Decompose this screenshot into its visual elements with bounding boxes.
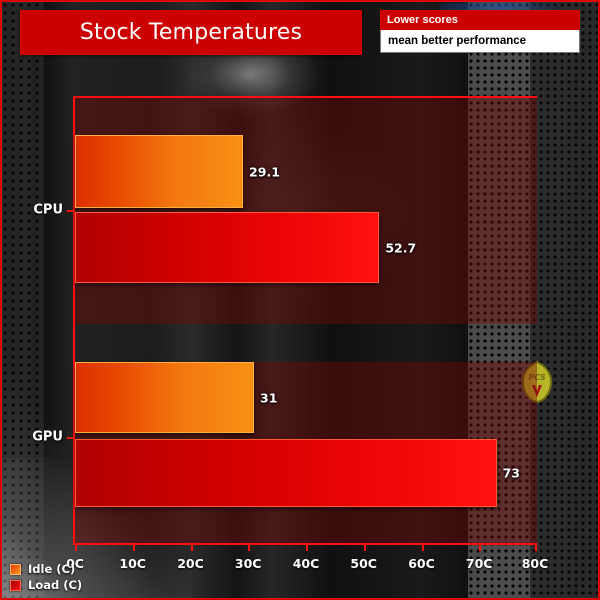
legend-item-idle[interactable]: Idle (C) (10, 562, 82, 576)
note-body: mean better performance (380, 30, 580, 53)
note-heading: Lower scores (380, 10, 580, 30)
x-label-20: 20C (177, 556, 204, 571)
x-label-60: 60C (408, 556, 435, 571)
x-label-50: 50C (350, 556, 377, 571)
page-title: Stock Temperatures (80, 20, 302, 45)
x-label-30: 30C (235, 556, 262, 571)
plot-tint-cpu (75, 96, 537, 324)
chart-title-banner: Stock Temperatures (20, 10, 362, 55)
bar-cpu-load[interactable]: 52.7 (75, 212, 379, 283)
x-tick-30 (248, 544, 250, 551)
plot-area: 0C 10C 20C 30C 40C 50C 60C 70C 80C CPU G… (75, 96, 537, 545)
x-label-40: 40C (293, 556, 320, 571)
y-label-gpu: GPU (32, 430, 63, 445)
legend: Idle (C) Load (C) (10, 562, 82, 592)
plot-top-border (75, 96, 537, 98)
y-tick-gpu (67, 437, 75, 439)
bar-value-gpu-idle: 31 (260, 390, 277, 405)
x-tick-10 (133, 544, 135, 551)
bar-value-cpu-idle: 29.1 (249, 164, 280, 179)
chart-frame: PCS Stock Temperatures Lower scores mean… (0, 0, 600, 600)
idle-swatch-icon (10, 564, 21, 575)
x-tick-0 (75, 544, 77, 551)
x-tick-20 (191, 544, 193, 551)
load-swatch-icon (10, 580, 21, 591)
bar-value-gpu-load: 73 (503, 466, 520, 481)
bar-cpu-idle[interactable]: 29.1 (75, 135, 243, 208)
legend-item-load[interactable]: Load (C) (10, 578, 82, 592)
x-tick-40 (306, 544, 308, 551)
x-tick-60 (422, 544, 424, 551)
x-label-70: 70C (466, 556, 493, 571)
x-label-80: 80C (522, 556, 549, 571)
x-tick-50 (364, 544, 366, 551)
legend-label-idle: Idle (C) (28, 562, 75, 576)
x-tick-80 (535, 544, 537, 551)
y-label-cpu: CPU (33, 203, 63, 218)
bar-gpu-idle[interactable]: 31 (75, 362, 254, 433)
y-tick-cpu (67, 210, 75, 212)
x-tick-70 (479, 544, 481, 551)
x-label-10: 10C (119, 556, 146, 571)
bar-gpu-load[interactable]: 73 (75, 439, 497, 507)
legend-label-load: Load (C) (28, 578, 82, 592)
bar-value-cpu-load: 52.7 (385, 240, 416, 255)
note-box: Lower scores mean better performance (380, 10, 580, 53)
